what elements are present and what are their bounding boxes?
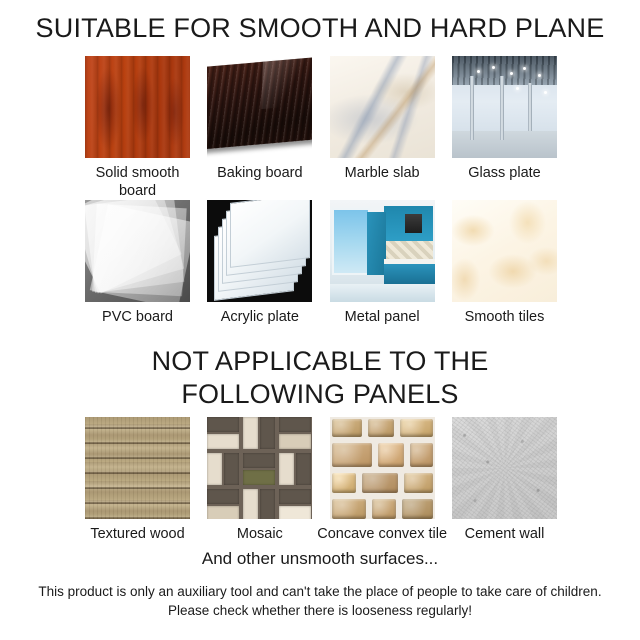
- material-card-acrylic-plate: Acrylic plate: [207, 200, 312, 327]
- material-label: Textured wood: [90, 526, 184, 544]
- material-label: Acrylic plate: [221, 309, 299, 327]
- material-label: Cement wall: [465, 526, 545, 544]
- stone-block: [378, 443, 404, 467]
- baking-board-texture: [207, 56, 312, 158]
- material-card-smooth-tiles: Smooth tiles: [452, 200, 557, 327]
- stone-block: [402, 499, 433, 519]
- stone-block: [332, 473, 356, 493]
- gloss-highlight: [261, 58, 309, 109]
- page-title-not-applicable: NOT APPLICABLE TO THE FOLLOWING PANELS: [0, 345, 640, 411]
- solid-wood-texture: [85, 56, 190, 158]
- floor: [330, 284, 435, 302]
- ceiling: [452, 56, 557, 85]
- material-label: Glass plate: [468, 165, 541, 183]
- mosaic-tile: [207, 489, 239, 504]
- material-label: Solid smooth board: [82, 165, 194, 200]
- mosaic-tile: [243, 453, 275, 468]
- floor: [452, 131, 557, 158]
- pvc-sheets-texture: [85, 200, 190, 302]
- glass-mullion: [470, 76, 474, 139]
- material-label: Metal panel: [345, 309, 420, 327]
- material-label: Mosaic: [237, 526, 283, 544]
- mosaic-tile: [243, 417, 258, 449]
- mosaic-tile: [243, 470, 275, 485]
- rough-stone-texture: [330, 417, 435, 519]
- material-card-glass-plate: Glass plate: [452, 56, 557, 200]
- stone-block: [362, 473, 398, 493]
- material-card-concave-convex-tile: Concave convex tile: [330, 417, 435, 544]
- mosaic-tile: [224, 453, 239, 485]
- glass-mullion: [528, 83, 532, 132]
- glass-mullion: [500, 76, 504, 139]
- glass-partition-texture: [452, 56, 557, 158]
- pvc-sheet: [90, 204, 190, 302]
- material-card-metal-panel: Metal panel: [330, 200, 435, 327]
- mosaic-tile: [279, 489, 311, 504]
- base-cabinet: [384, 264, 434, 283]
- kitchen-cabinet-texture: [330, 200, 435, 302]
- material-card-textured-wood: Textured wood: [85, 417, 190, 544]
- not-applicable-row: Textured wood Mosaic Concave convex tile…: [85, 417, 557, 544]
- mosaic-tile: [207, 506, 239, 519]
- material-label: Baking board: [217, 165, 302, 183]
- footer-lead-text: And other unsmooth surfaces...: [0, 549, 640, 569]
- cream-onyx-texture: [452, 200, 557, 302]
- disclaimer-line-1: This product is only an auxiliary tool a…: [28, 583, 612, 602]
- mosaic-tile: [207, 417, 239, 432]
- title-line-2: FOLLOWING PANELS: [0, 378, 640, 411]
- suitable-row-2: PVC board Acrylic plate: [85, 200, 557, 327]
- mosaic-tile: [207, 434, 239, 449]
- marble-texture: [330, 56, 435, 158]
- footer-disclaimer: This product is only an auxiliary tool a…: [28, 583, 612, 620]
- material-label: PVC board: [102, 309, 173, 327]
- stone-block: [404, 473, 433, 493]
- mosaic-basketweave-texture: [207, 417, 312, 519]
- acrylic-plate: [230, 200, 310, 268]
- infographic-page: SUITABLE FOR SMOOTH AND HARD PLANE Solid…: [0, 0, 640, 640]
- mosaic-tile: [260, 417, 275, 449]
- material-card-mosaic: Mosaic: [207, 417, 312, 544]
- stone-block: [332, 499, 366, 519]
- material-label: Concave convex tile: [315, 526, 450, 544]
- title-line-1: NOT APPLICABLE TO THE: [0, 345, 640, 378]
- page-title-suitable: SUITABLE FOR SMOOTH AND HARD PLANE: [0, 12, 640, 45]
- material-card-marble-slab: Marble slab: [330, 56, 435, 200]
- stone-block: [368, 419, 394, 437]
- stone-block: [400, 419, 433, 437]
- mosaic-tile: [243, 489, 258, 519]
- cement-speckle-texture: [452, 417, 557, 519]
- ceiling-light: [516, 87, 519, 90]
- mosaic-tile: [279, 506, 311, 519]
- mosaic-tile: [279, 434, 311, 449]
- stone-block: [332, 419, 362, 437]
- material-label: Smooth tiles: [465, 309, 545, 327]
- stone-block: [372, 499, 396, 519]
- mosaic-tile: [279, 417, 311, 432]
- acrylic-plates-texture: [207, 200, 312, 302]
- material-label: Marble slab: [345, 165, 420, 183]
- ceiling-light: [544, 91, 547, 94]
- suitable-row-1: Solid smooth board Baking board Marble s…: [85, 56, 557, 200]
- range-hood: [405, 214, 422, 232]
- stone-block: [410, 443, 433, 467]
- window: [332, 208, 371, 275]
- backsplash: [384, 241, 432, 259]
- mosaic-tile: [260, 489, 275, 519]
- mosaic-tile: [207, 453, 222, 485]
- mosaic-tile: [279, 453, 294, 485]
- material-card-solid-smooth-board: Solid smooth board: [85, 56, 190, 200]
- material-card-baking-board: Baking board: [207, 56, 312, 200]
- mosaic-tile: [296, 453, 311, 485]
- material-card-pvc-board: PVC board: [85, 200, 190, 327]
- disclaimer-line-2: Please check whether there is looseness …: [28, 602, 612, 621]
- stone-block: [332, 443, 372, 467]
- plank-wood-texture: [85, 417, 190, 519]
- material-card-cement-wall: Cement wall: [452, 417, 557, 544]
